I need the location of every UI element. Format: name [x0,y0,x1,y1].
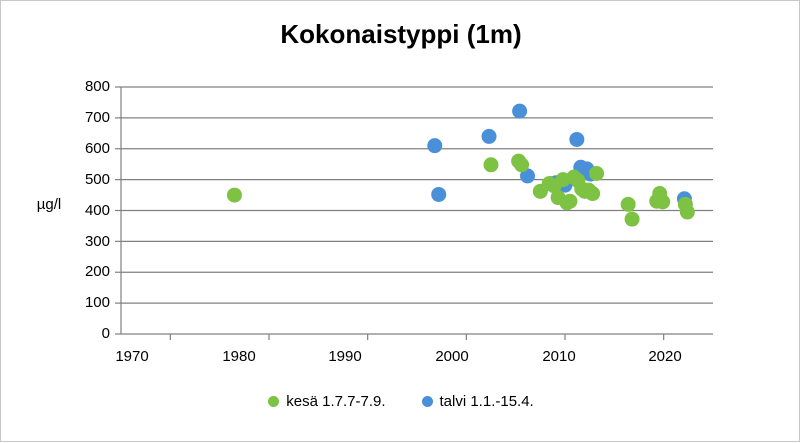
data-point-kesa [227,188,242,203]
data-point-kesa [514,157,529,172]
legend-label-talvi: talvi 1.1.-15.4. [440,393,534,410]
data-point-talvi [427,138,442,153]
legend-item-talvi[interactable]: talvi 1.1.-15.4. [422,393,534,410]
data-point-kesa [680,205,695,220]
data-point-talvi [569,132,584,147]
series-kesa-points [227,154,695,227]
data-point-talvi [431,187,446,202]
data-point-kesa [484,157,499,172]
chart-container: Kokonaistyppi (1m) µg/l 800 700 600 500 … [0,0,800,442]
legend-marker-talvi-icon [422,396,433,407]
data-point-kesa [621,197,636,212]
legend-label-kesa: kesä 1.7.7-7.9. [286,393,385,410]
data-point-kesa [655,194,670,209]
data-point-kesa [562,194,577,209]
tick-marks [115,87,664,340]
gridlines [121,87,713,303]
plot-area [1,1,800,443]
data-point-kesa [625,212,640,227]
data-point-kesa [585,186,600,201]
legend-marker-kesa-icon [268,396,279,407]
data-point-talvi [482,129,497,144]
data-point-kesa [589,166,604,181]
data-point-talvi [512,104,527,119]
chart-legend: kesä 1.7.7-7.9. talvi 1.1.-15.4. [1,393,800,410]
legend-item-kesa[interactable]: kesä 1.7.7-7.9. [268,393,385,410]
